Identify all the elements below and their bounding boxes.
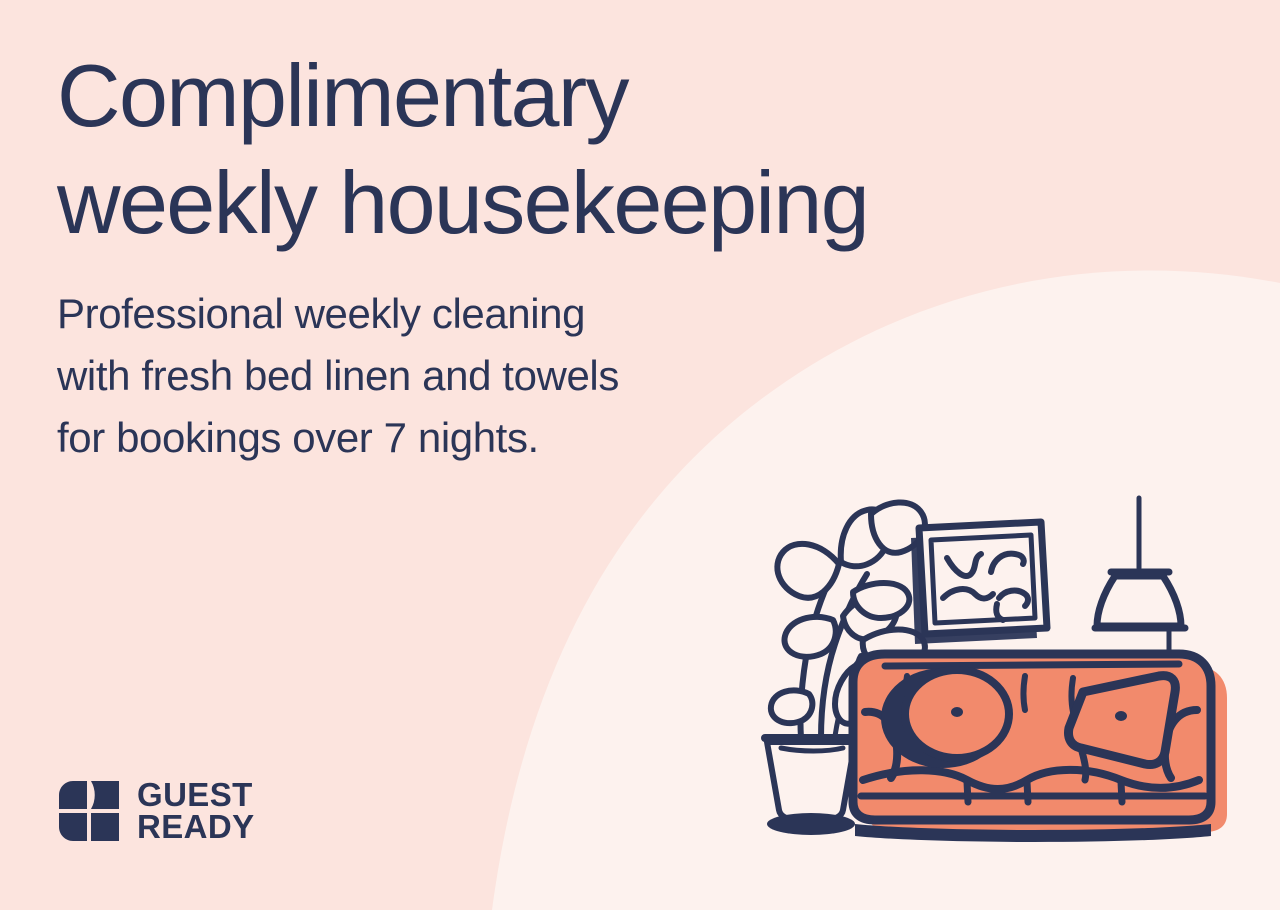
guestready-logo-mark (57, 779, 121, 843)
sofa-icon (853, 654, 1227, 842)
promo-banner: Complimentary weekly housekeeping Profes… (0, 0, 1280, 910)
living-room-illustration (735, 480, 1245, 870)
text-block: Complimentary weekly housekeeping Profes… (57, 42, 1067, 469)
logo-line-2: READY (137, 811, 255, 843)
framed-picture-icon (911, 522, 1047, 644)
guestready-wordmark: GUEST READY (137, 779, 255, 843)
logo-line-1: GUEST (137, 779, 255, 811)
page-title: Complimentary weekly housekeeping (57, 42, 1067, 257)
guestready-logo[interactable]: GUEST READY (57, 779, 255, 843)
subtitle-text: Professional weekly cleaning with fresh … (57, 283, 1067, 469)
pendant-lamp-icon (1095, 498, 1185, 666)
